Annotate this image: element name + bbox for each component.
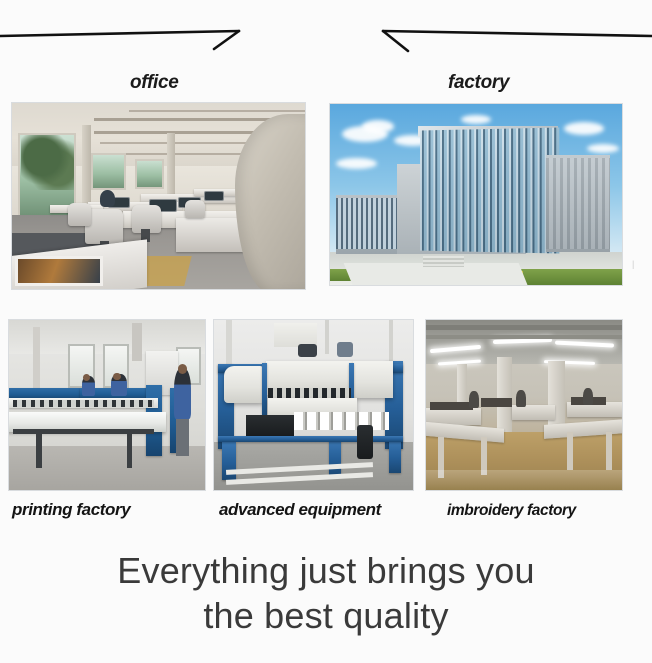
machine-head: [481, 398, 512, 407]
factory-photo: [330, 104, 622, 285]
embroidery-factory-photo: [426, 320, 622, 490]
advanced-equipment-caption: advanced equipment: [219, 500, 381, 520]
cloud: [461, 115, 490, 124]
table-leg: [127, 431, 133, 468]
window-tree: [21, 135, 74, 191]
office-chair: [185, 200, 206, 219]
cloud: [362, 120, 394, 133]
tagline: Everything just brings you the best qual…: [0, 548, 652, 639]
background-object: [298, 344, 318, 358]
arrow-pointing-left: [383, 31, 652, 51]
machine-leg: [389, 439, 401, 473]
equipment-scene: [214, 320, 413, 490]
tagline-line-1: Everything just brings you: [0, 548, 652, 593]
office-worker: [100, 190, 115, 207]
machine-leg: [329, 439, 341, 476]
printing-factory-caption: printing factory: [12, 500, 130, 520]
machine-base-rail: [218, 436, 403, 443]
office-window: [91, 153, 126, 190]
machine-head: [430, 402, 473, 411]
ceiling-beam: [129, 110, 305, 112]
office-curved-wall: [235, 114, 305, 289]
factory-building-scene: [330, 104, 622, 285]
print-head-row: [268, 388, 352, 398]
right-wing-panels: [546, 158, 610, 249]
office-column: [82, 125, 91, 207]
watermark-mark: |: [632, 258, 642, 270]
worker: [516, 390, 526, 407]
machine-cover-left: [224, 366, 264, 403]
office-photo: [12, 103, 305, 289]
ceiling-beam: [426, 335, 622, 338]
printing-factory-photo: [9, 320, 205, 490]
machine-cover-right: [353, 361, 393, 398]
bench-leg: [567, 432, 573, 469]
worker-head: [113, 373, 121, 381]
facade-mullions: [420, 128, 559, 254]
office-window: [135, 159, 164, 189]
entrance-steps: [423, 256, 464, 267]
tagline-line-2: the best quality: [0, 593, 652, 638]
table-frame: [13, 429, 154, 434]
background-object: [337, 342, 353, 357]
worker-legs: [176, 419, 190, 456]
ceiling-beam: [426, 325, 622, 330]
printing-workshop-scene: [9, 320, 205, 490]
glass-facade: [420, 128, 559, 254]
control-box: [357, 425, 373, 459]
wall-pipe: [325, 320, 329, 354]
arrow-graphics: [0, 0, 652, 68]
office-monitor: [205, 192, 223, 199]
office-column: [167, 133, 174, 200]
cloud: [336, 158, 377, 169]
embroidery-factory-caption: imbroidery factory: [447, 502, 576, 520]
office-caption: office: [130, 72, 179, 94]
advanced-equipment-photo: [214, 320, 413, 490]
worker: [469, 391, 479, 408]
promotional-poster: office factory: [0, 0, 652, 663]
arrow-band: [0, 0, 652, 68]
office-scene: [12, 103, 305, 289]
roller-bank: [294, 412, 390, 431]
carriage-grippers: [13, 400, 154, 407]
machine-drum: [246, 415, 294, 435]
sewing-machine-row: [512, 405, 555, 420]
cloud: [564, 122, 605, 135]
office-chair: [68, 203, 91, 225]
table-leg: [36, 431, 42, 468]
machine-divider: [262, 363, 267, 421]
worker: [174, 368, 192, 419]
floor-reflection: [426, 470, 622, 490]
foreground-artwork: [18, 259, 100, 283]
embroidery-scene: [426, 320, 622, 490]
wall-pillar: [132, 323, 142, 360]
arrow-pointing-right: [0, 31, 239, 49]
worker: [583, 388, 593, 405]
bench-leg: [606, 432, 612, 469]
cloud: [587, 144, 619, 153]
factory-caption: factory: [448, 72, 509, 94]
wall-pipe: [226, 320, 232, 364]
